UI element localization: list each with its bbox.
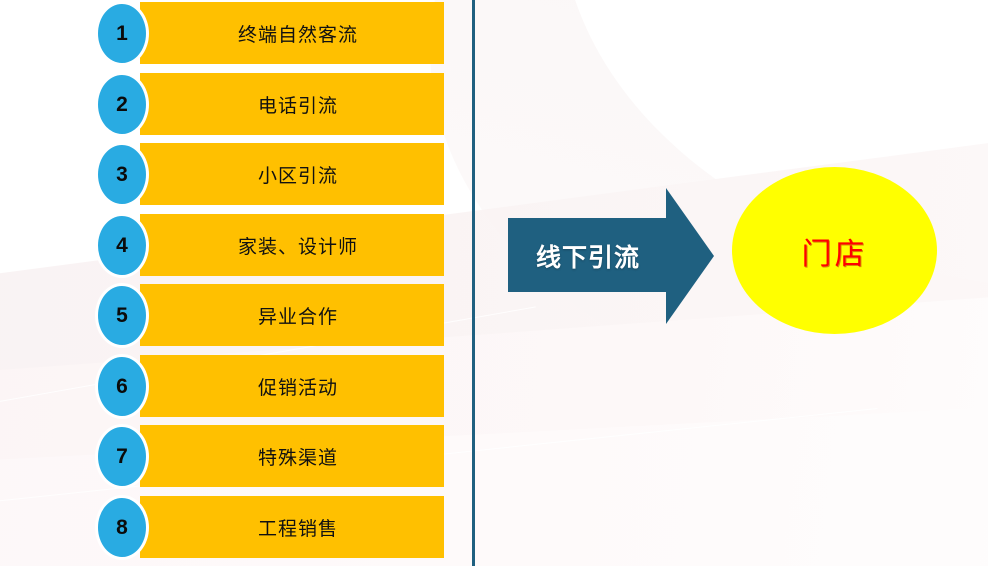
flow-arrow-label: 线下引流 (508, 186, 668, 326)
list-item-number: 1 (116, 22, 128, 46)
list-item-number: 4 (116, 234, 128, 258)
list-item[interactable]: 特殊渠道 7 (98, 425, 444, 487)
list-item-bar[interactable]: 小区引流 (140, 143, 444, 205)
list-item-number-badge: 5 (98, 286, 146, 345)
list-item-number: 6 (116, 375, 128, 399)
list-item[interactable]: 促销活动 6 (98, 355, 444, 417)
list-item-number-badge: 3 (98, 145, 146, 204)
store-node-label: 门店 (802, 229, 868, 273)
list-item-number-badge: 7 (98, 427, 146, 486)
list-item-number-badge: 2 (98, 75, 146, 134)
list-item-number-badge: 1 (98, 4, 146, 63)
list-item-number: 7 (116, 445, 128, 469)
list-item-bar[interactable]: 促销活动 (140, 355, 444, 417)
list-item-label: 促销活动 (258, 373, 338, 400)
list-item-label: 特殊渠道 (258, 443, 338, 470)
list-item-number: 3 (116, 163, 128, 187)
store-node[interactable]: 门店 (732, 167, 937, 334)
list-item[interactable]: 终端自然客流 1 (98, 2, 444, 64)
list-item-bar[interactable]: 终端自然客流 (140, 2, 444, 64)
list-item-number: 5 (116, 304, 128, 328)
vertical-divider (472, 0, 475, 566)
list-item-label: 电话引流 (258, 91, 338, 118)
list-item-number-badge: 8 (98, 498, 146, 557)
list-item[interactable]: 异业合作 5 (98, 284, 444, 346)
list-item-bar[interactable]: 异业合作 (140, 284, 444, 346)
list-item[interactable]: 小区引流 3 (98, 143, 444, 205)
list-item-number-badge: 6 (98, 357, 146, 416)
list-item-bar[interactable]: 家装、设计师 (140, 214, 444, 276)
list-item-bar[interactable]: 特殊渠道 (140, 425, 444, 487)
list-item-label: 终端自然客流 (238, 20, 358, 47)
slide-canvas: 终端自然客流 1 电话引流 2 小区引流 3 家装、设计师 (0, 0, 988, 566)
list-item-label: 小区引流 (258, 161, 338, 188)
list-item-label: 工程销售 (258, 514, 338, 541)
list-item-label: 家装、设计师 (238, 232, 358, 259)
list-item[interactable]: 家装、设计师 4 (98, 214, 444, 276)
flow-arrow[interactable]: 线下引流 (508, 186, 716, 326)
list-item[interactable]: 工程销售 8 (98, 496, 444, 558)
list-item[interactable]: 电话引流 2 (98, 73, 444, 135)
list-item-number: 2 (116, 93, 128, 117)
list-item-bar[interactable]: 电话引流 (140, 73, 444, 135)
list-item-bar[interactable]: 工程销售 (140, 496, 444, 558)
list-item-number: 8 (116, 516, 128, 540)
list-item-number-badge: 4 (98, 216, 146, 275)
list-item-label: 异业合作 (258, 302, 338, 329)
